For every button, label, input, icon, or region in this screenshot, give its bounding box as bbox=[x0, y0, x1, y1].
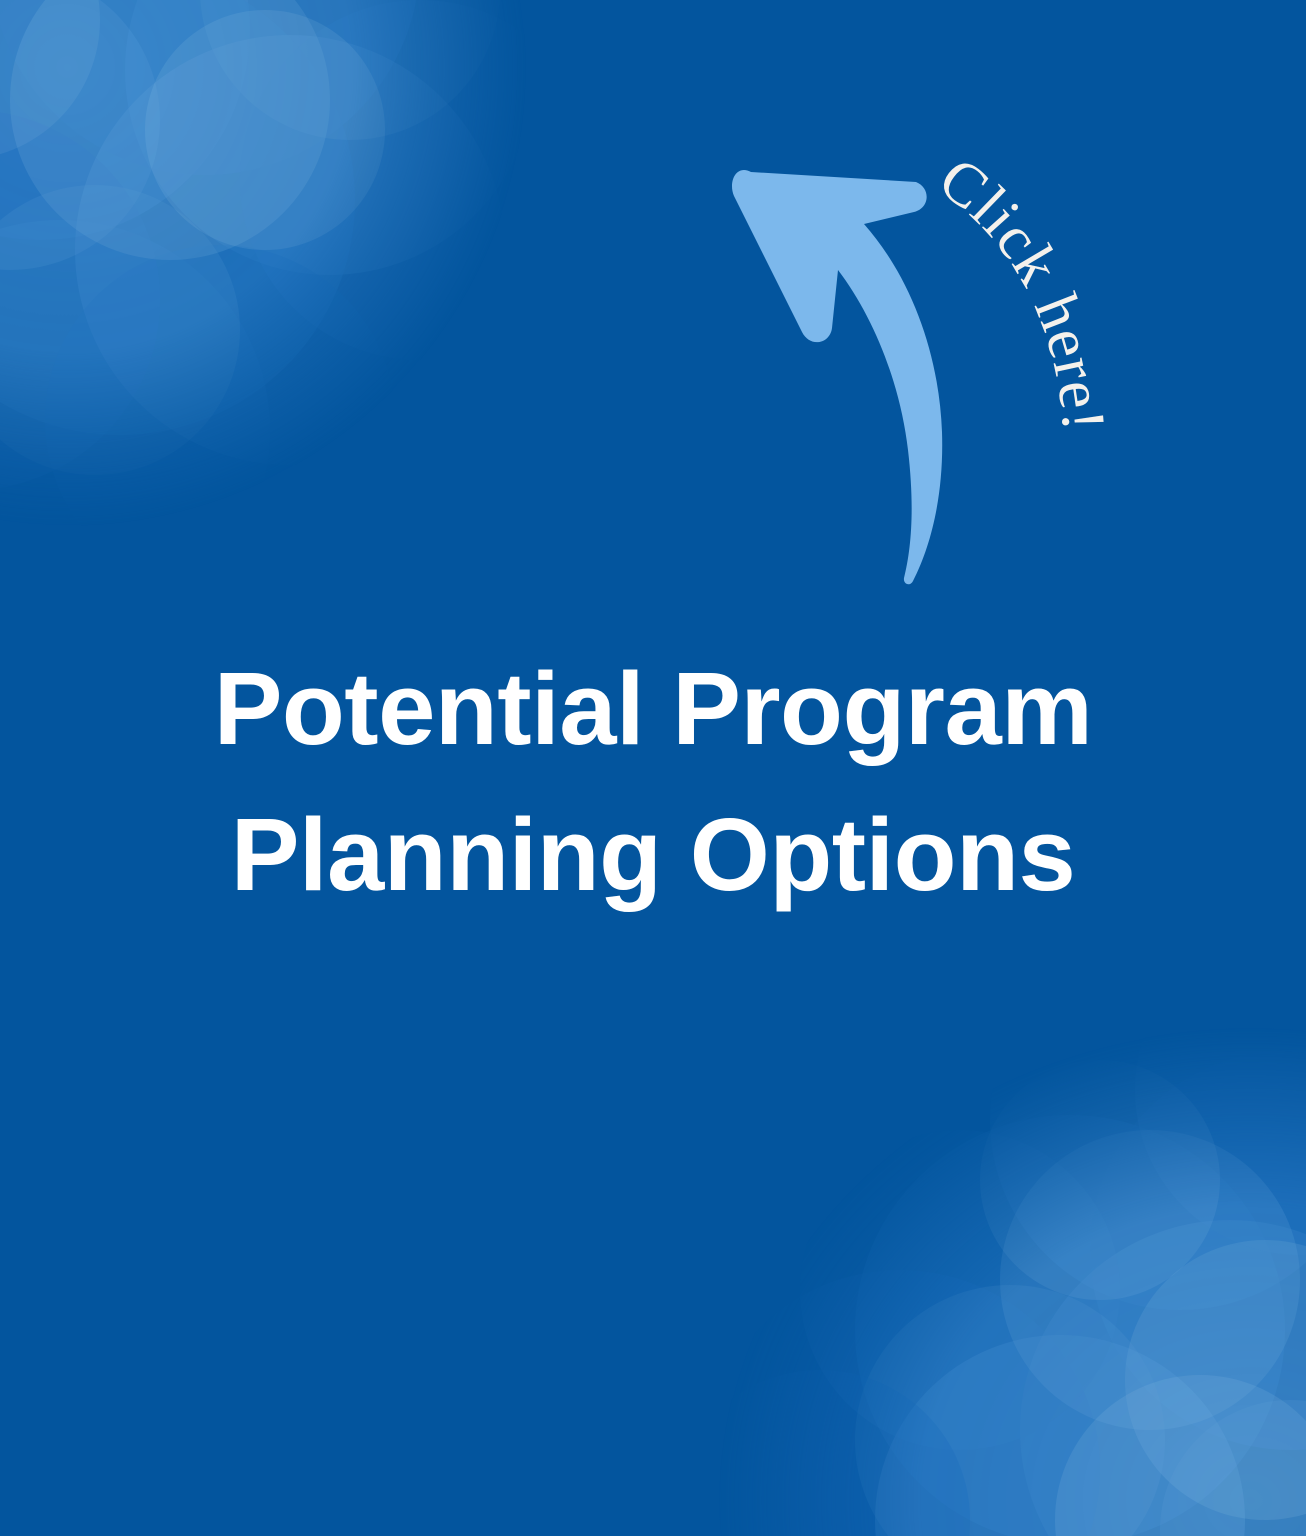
page-title-line-2: Planning Options bbox=[90, 782, 1216, 928]
click-here-label: Click here! bbox=[880, 150, 1130, 550]
page-title-line-1: Potential Program bbox=[90, 636, 1216, 782]
click-here-text: Click here! bbox=[926, 144, 1117, 434]
svg-text:Click here!: Click here! bbox=[926, 144, 1117, 434]
page-title: Potential Program Planning Options bbox=[0, 636, 1306, 929]
slide-canvas: Click here! Potential Program Planning O… bbox=[0, 0, 1306, 1536]
